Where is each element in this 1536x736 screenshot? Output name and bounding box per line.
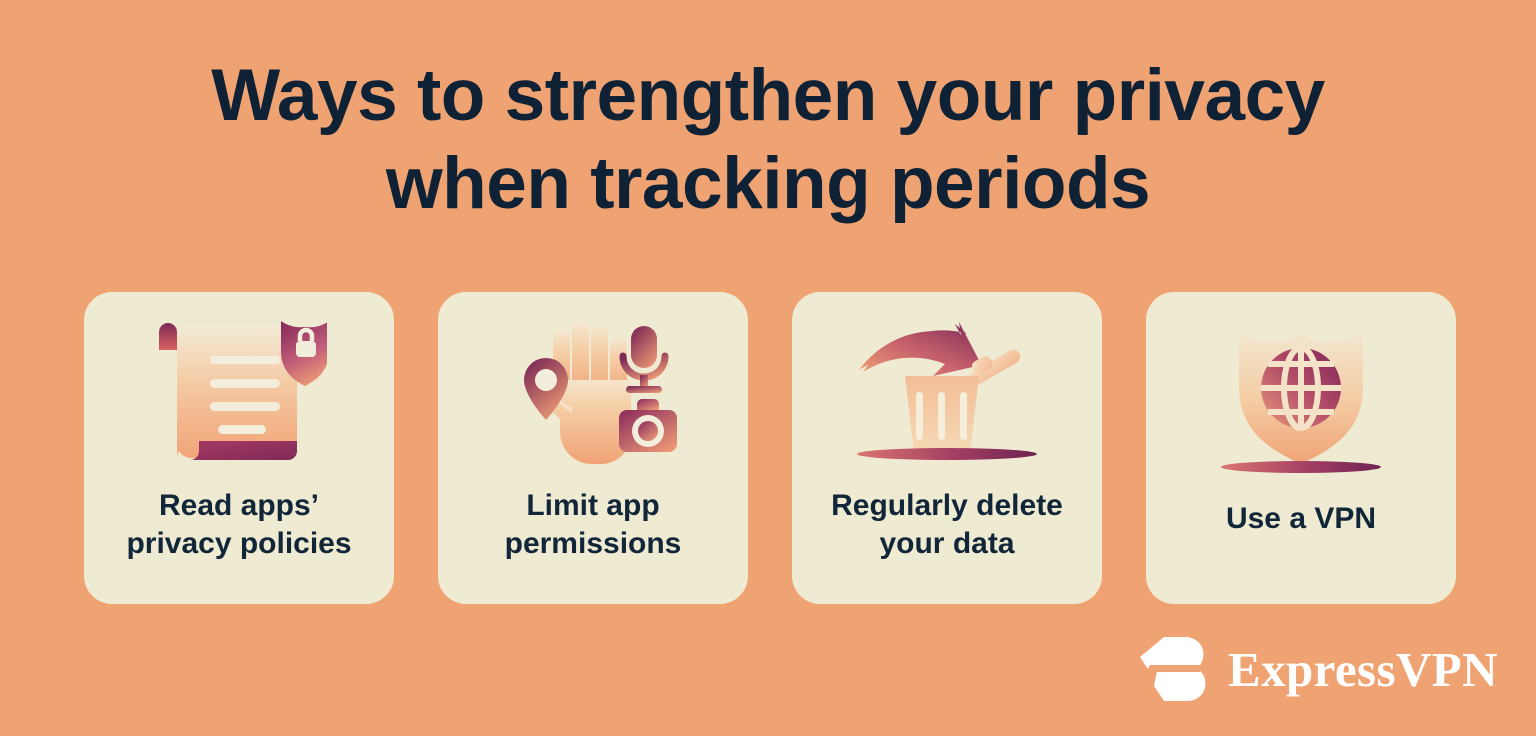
trash-can-with-arrow-icon <box>792 292 1102 487</box>
expressvpn-e-mark-icon <box>1136 636 1210 702</box>
card-label-line-2: your data <box>879 527 1014 560</box>
page-title: Ways to strengthen your privacy when tra… <box>0 52 1536 229</box>
card-label-line-1: Limit app <box>526 489 659 522</box>
tips-card-row: Read apps’ privacy policies <box>84 292 1456 604</box>
card-label-line-2: privacy policies <box>126 527 351 560</box>
scroll-with-shield-lock-icon <box>84 292 394 487</box>
card-label: Read apps’ privacy policies <box>112 487 365 564</box>
card-label-line-1: Read apps’ <box>159 489 319 522</box>
card-label: Regularly delete your data <box>817 487 1077 564</box>
expressvpn-wordmark: ExpressVPN <box>1228 645 1498 694</box>
card-use-a-vpn: Use a VPN <box>1146 292 1456 604</box>
page-title-line-2: when tracking periods <box>0 140 1536 228</box>
card-read-apps-privacy-policies: Read apps’ privacy policies <box>84 292 394 604</box>
card-label-line-1: Use a VPN <box>1226 502 1376 535</box>
card-regularly-delete-your-data: Regularly delete your data <box>792 292 1102 604</box>
expressvpn-logo: ExpressVPN <box>1136 636 1498 702</box>
hand-with-location-mic-camera-icon <box>438 292 748 487</box>
card-label: Limit app permissions <box>491 487 696 564</box>
card-limit-app-permissions: Limit app permissions <box>438 292 748 604</box>
shield-with-globe-icon <box>1146 292 1456 500</box>
card-label-line-1: Regularly delete <box>831 489 1063 522</box>
card-label-line-2: permissions <box>505 527 682 560</box>
page-title-line-1: Ways to strengthen your privacy <box>0 52 1536 140</box>
card-label: Use a VPN <box>1212 500 1390 538</box>
